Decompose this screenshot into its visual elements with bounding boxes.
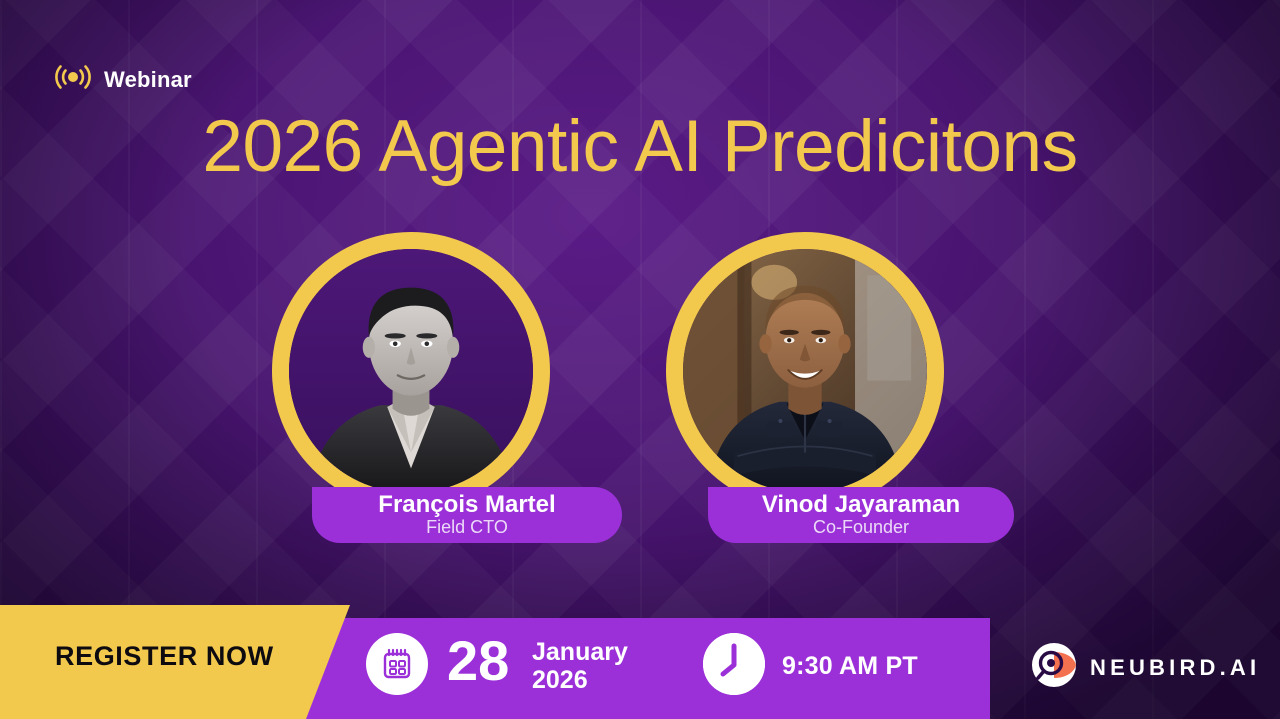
avatar bbox=[289, 249, 533, 493]
calendar-icon bbox=[366, 633, 428, 695]
speaker-nameplate-1: François Martel Field CTO bbox=[312, 487, 622, 543]
neubird-bird-icon bbox=[1031, 642, 1077, 693]
speaker-role: Co-Founder bbox=[813, 517, 909, 538]
speaker-photo-ring-1 bbox=[272, 232, 550, 510]
speaker-nameplate-2: Vinod Jayaraman Co-Founder bbox=[708, 487, 1014, 543]
speaker-card-2: Vinod Jayaraman Co-Founder bbox=[666, 232, 944, 510]
event-month-year: January 2026 bbox=[532, 638, 628, 694]
page-title: 2026 Agentic AI Predicitons bbox=[0, 108, 1280, 185]
event-year: 2026 bbox=[532, 666, 628, 694]
broadcast-icon bbox=[55, 62, 91, 97]
speaker-name: François Martel bbox=[378, 492, 555, 517]
webinar-promo-banner: Webinar 2026 Agentic AI Predicitons bbox=[0, 0, 1280, 719]
event-time: 9:30 AM PT bbox=[782, 652, 918, 681]
register-now-label: REGISTER NOW bbox=[55, 641, 274, 672]
event-day: 28 bbox=[447, 634, 509, 687]
speaker-role: Field CTO bbox=[426, 517, 508, 538]
event-month: January bbox=[532, 638, 628, 666]
brand-wordmark: NEUBIRD.AI bbox=[1090, 655, 1260, 681]
webinar-badge: Webinar bbox=[55, 62, 192, 97]
speaker-card-1: François Martel Field CTO bbox=[272, 232, 550, 510]
speaker-name: Vinod Jayaraman bbox=[762, 492, 960, 517]
brand-logo: NEUBIRD.AI bbox=[1031, 642, 1260, 693]
speaker-photo-ring-2 bbox=[666, 232, 944, 510]
webinar-badge-label: Webinar bbox=[104, 67, 192, 93]
clock-icon bbox=[703, 633, 765, 695]
avatar bbox=[683, 249, 927, 493]
